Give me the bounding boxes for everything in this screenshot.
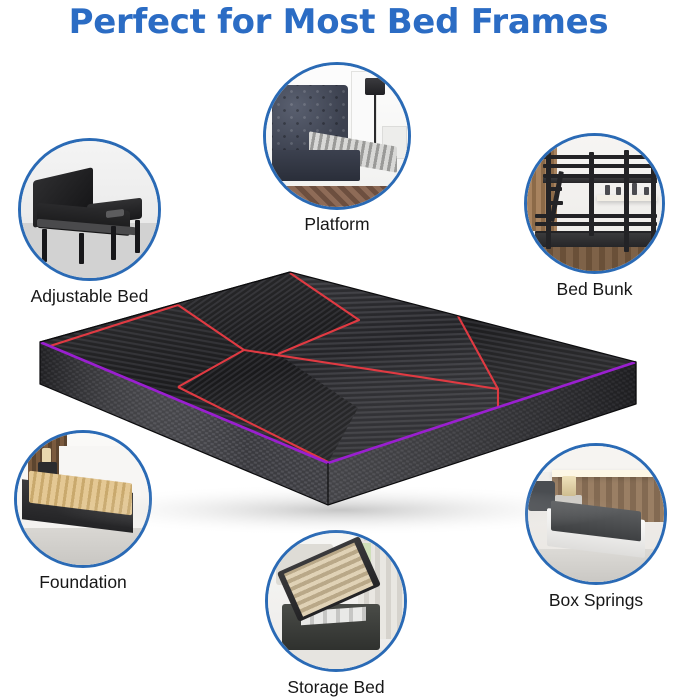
callout-label-box-springs: Box Springs xyxy=(549,590,643,611)
callout-label-foundation: Foundation xyxy=(39,572,127,593)
callout-label-platform: Platform xyxy=(304,214,369,235)
callout-label-storage-bed: Storage Bed xyxy=(287,677,384,698)
callout-bed-bunk[interactable]: Bed Bunk xyxy=(524,133,665,274)
bed-frame-compatibility-infographic: Perfect for Most Bed Frames Adjustable B… xyxy=(0,0,677,700)
platform-bed-photo xyxy=(263,62,411,210)
bunk-bed-photo xyxy=(524,133,665,274)
mattress-product-image xyxy=(28,258,653,558)
callout-platform[interactable]: Platform xyxy=(263,62,411,210)
mattress-illustration xyxy=(28,258,653,558)
page-title: Perfect for Most Bed Frames xyxy=(0,2,677,42)
